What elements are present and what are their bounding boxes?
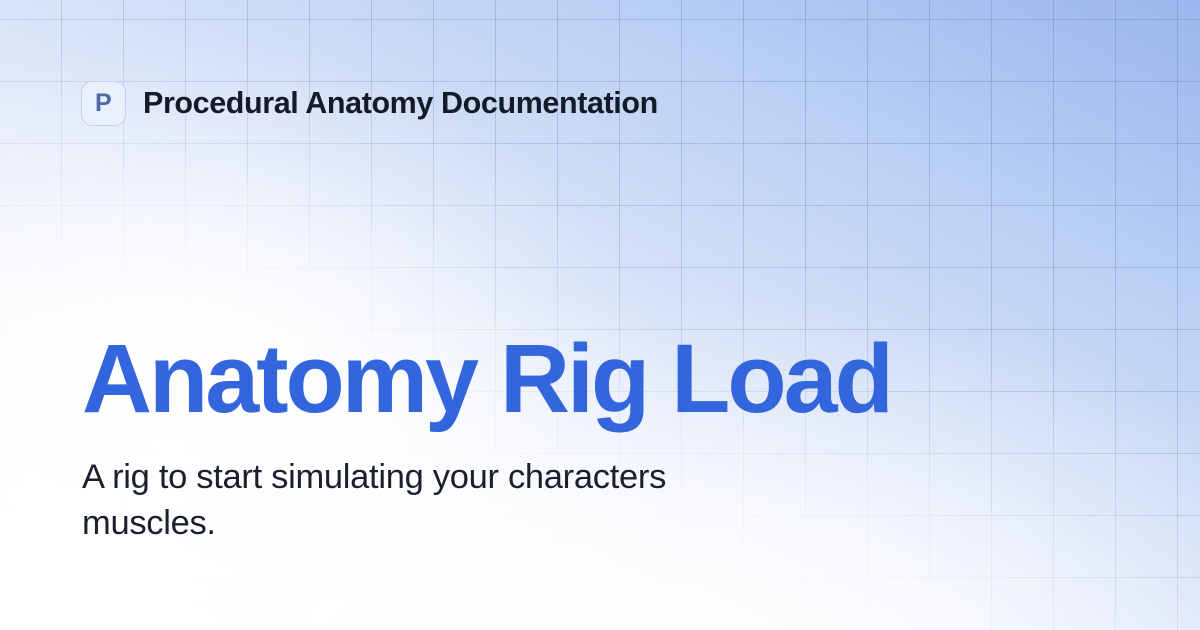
hero-section: Anatomy Rig Load A rig to start simulati…: [82, 330, 1082, 547]
site-name: Procedural Anatomy Documentation: [143, 86, 658, 121]
page-subtitle: A rig to start simulating your character…: [82, 455, 772, 547]
p-square-logo-icon: P: [81, 81, 126, 126]
og-card: P Procedural Anatomy Documentation Anato…: [0, 0, 1200, 630]
site-header: P Procedural Anatomy Documentation: [81, 81, 658, 126]
card-content: P Procedural Anatomy Documentation Anato…: [0, 0, 1200, 630]
page-title: Anatomy Rig Load: [82, 330, 1082, 427]
